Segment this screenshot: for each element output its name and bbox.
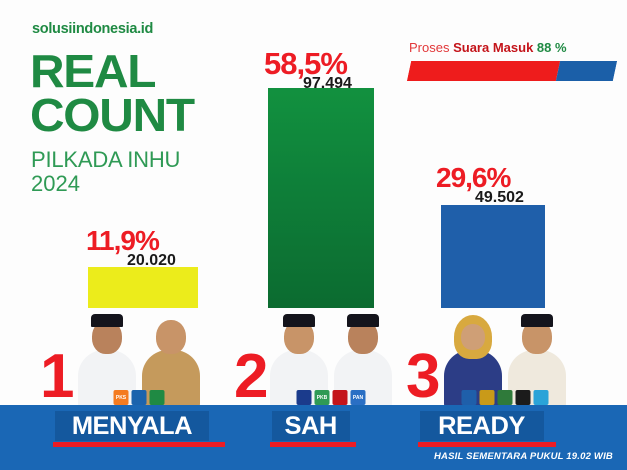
candidate-name-chip-2: SAH: [272, 411, 350, 441]
party-logo-golkar: [498, 390, 513, 405]
songkok-icon: [91, 314, 123, 327]
party-logo-pdip: [333, 390, 348, 405]
footer-band: MENYALA SAH READY HASIL SEMENTARA PUKUL …: [0, 405, 627, 470]
candidate-block-3: 3: [406, 310, 566, 406]
party-logo-pan: PAN: [351, 390, 366, 405]
songkok-icon: [521, 314, 553, 327]
party-logo-row-3: [462, 390, 549, 405]
party-logo-row-2: PKB PAN: [297, 390, 366, 405]
candidate-number-1: 1: [40, 346, 71, 408]
party-logo-gerindra: [480, 390, 495, 405]
party-logo-hanura: [534, 390, 549, 405]
chip-underline-2: [270, 442, 356, 447]
progress-bar-track: [407, 61, 617, 81]
candidate-photo-pair-1: PKS: [76, 312, 202, 406]
candidate-photo-pair-2: PKB PAN: [268, 312, 394, 406]
candidate-number-2: 2: [234, 346, 265, 408]
party-logo-demokrat: [132, 390, 147, 405]
footer-timestamp-note: HASIL SEMENTARA PUKUL 19.02 WIB: [434, 451, 613, 462]
progress-label: Proses Suara Masuk 88 %: [409, 40, 615, 55]
candidate-name-2: SAH: [285, 412, 337, 441]
progress-bar-remainder: [556, 61, 618, 81]
candidate-block-2: 2 PKB PAN: [234, 310, 374, 406]
candidate-name-chip-3: READY: [420, 411, 544, 441]
party-logo-nasdem: [462, 390, 477, 405]
songkok-icon: [347, 314, 379, 327]
chip-underline-1: [53, 442, 225, 447]
candidate-number-3: 3: [406, 346, 437, 408]
infographic-canvas: solusiindonesia.id REAL COUNT PILKADA IN…: [0, 0, 627, 470]
candidate-block-1: 1 PKS: [40, 310, 212, 406]
page-title-line1: REAL: [30, 52, 155, 91]
party-logo-pbb: [516, 390, 531, 405]
candidate-photo-pair-3: [442, 312, 568, 406]
page-title-line2: COUNT: [30, 96, 194, 135]
candidate-name-1: MENYALA: [72, 412, 192, 441]
progress-label-strong: Suara Masuk: [453, 40, 533, 55]
page-subtitle: PILKADA INHU: [31, 148, 180, 171]
progress-label-prefix: Proses: [409, 40, 449, 55]
bar-candidate-1: [88, 267, 198, 308]
party-logo-pks: PKS: [114, 390, 129, 405]
vote-progress-widget: Proses Suara Masuk 88 %: [409, 40, 615, 81]
party-logo-pkb: PKB: [315, 390, 330, 405]
chip-underline-3: [418, 442, 556, 447]
songkok-icon: [283, 314, 315, 327]
votes-label-candidate-2: 97.494: [303, 75, 352, 93]
bar-candidate-3: [441, 205, 545, 308]
progress-label-value: 88 %: [537, 40, 567, 55]
candidate-name-chip-1: MENYALA: [55, 411, 209, 441]
bar-candidate-2: [268, 88, 374, 308]
candidate-name-3: READY: [439, 412, 526, 441]
party-logo-ppp: [150, 390, 165, 405]
page-subtitle-year: 2024: [31, 172, 80, 195]
site-brand: solusiindonesia.id: [32, 21, 153, 37]
party-logo-perindo: [297, 390, 312, 405]
progress-bar-fill: [407, 61, 560, 81]
votes-label-candidate-1: 20.020: [127, 252, 176, 270]
portrait-head: [156, 320, 186, 354]
party-logo-row-1: PKS: [114, 390, 165, 405]
votes-label-candidate-3: 49.502: [475, 189, 524, 207]
portrait-head: [461, 324, 485, 350]
